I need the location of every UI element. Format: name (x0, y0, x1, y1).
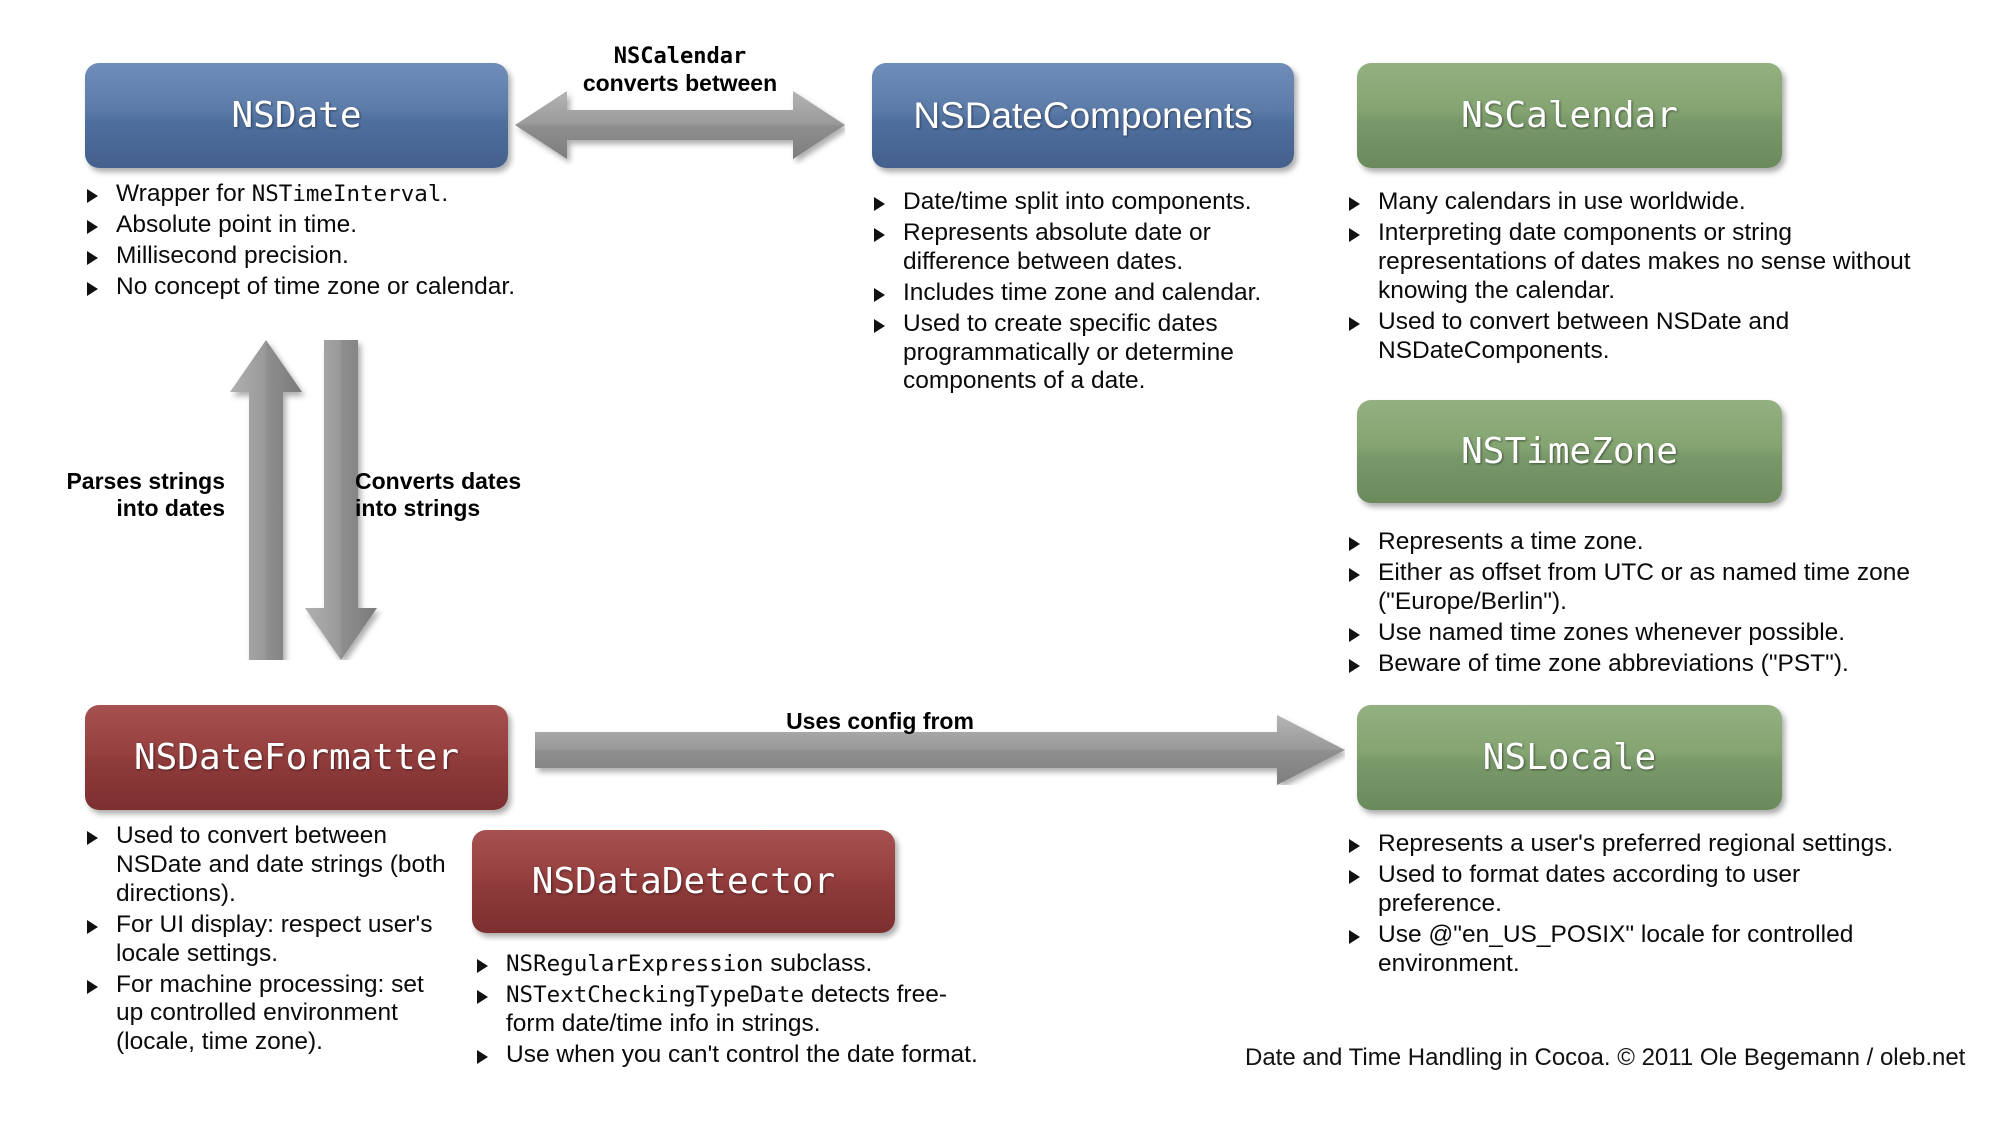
bullet-text: Absolute point in time. (116, 211, 357, 238)
bullet-list-nslocale: Represents a user's preferred regional s… (1340, 830, 1910, 979)
parses-strings-line1: Parses strings (66, 468, 225, 494)
arrow-label-converts-between: converts between (583, 70, 777, 96)
diagram-canvas: NSCalendar converts between Parses strin… (0, 0, 2000, 1125)
bullets-nscalendar: Many calendars in use worldwide.Interpre… (1340, 188, 1915, 367)
bullet-item: No concept of time zone or calendar. (78, 273, 548, 302)
node-nsdateformatter[interactable]: NSDateFormatter (85, 705, 508, 810)
bullet-item: Use named time zones whenever possible. (1340, 619, 1925, 648)
bullet-text: For UI display: respect user's locale se… (116, 911, 432, 967)
bullet-text: No concept of time zone or calendar. (116, 273, 515, 300)
bullets-nstimezone: Represents a time zone.Either as offset … (1340, 528, 1925, 681)
arrow-label-uses-config-from: Uses config from (700, 708, 1060, 735)
bullets-nsdate: Wrapper for NSTimeInterval.Absolute poin… (78, 180, 548, 304)
code-term: NSTimeInterval (252, 181, 442, 207)
bullet-item: Used to convert between NSDate and date … (78, 822, 448, 909)
node-nscalendar-title: NSCalendar (1461, 95, 1678, 136)
bullet-item: For UI display: respect user's locale se… (78, 911, 448, 969)
bullet-item: NSRegularExpression subclass. (468, 950, 978, 979)
code-term: NSRegularExpression (506, 951, 763, 977)
bullet-item: Beware of time zone abbreviations ("PST"… (1340, 650, 1925, 679)
bullet-text: subclass. (763, 950, 872, 977)
bullet-text: For machine processing: set up controlle… (116, 971, 424, 1056)
node-nslocale[interactable]: NSLocale (1357, 705, 1782, 810)
node-nsdate[interactable]: NSDate (85, 63, 508, 168)
node-nstimezone-title: NSTimeZone (1461, 431, 1678, 472)
bullet-list-nscalendar: Many calendars in use worldwide.Interpre… (1340, 188, 1915, 365)
bullet-text: Either as offset from UTC or as named ti… (1378, 559, 1910, 615)
code-term: NSTextCheckingTypeDate (506, 982, 804, 1008)
bullets-nslocale: Represents a user's preferred regional s… (1340, 830, 1910, 981)
bullet-item: Wrapper for NSTimeInterval. (78, 180, 548, 209)
bullets-nsdatecomponents: Date/time split into components.Represen… (865, 188, 1265, 398)
bullet-list-nsdateformatter: Used to convert between NSDate and date … (78, 822, 448, 1057)
bullet-item: Either as offset from UTC or as named ti… (1340, 559, 1925, 617)
bullet-list-nstimezone: Represents a time zone.Either as offset … (1340, 528, 1925, 679)
bullet-item: NSTextCheckingTypeDate detects free-form… (468, 981, 978, 1039)
node-nstimezone[interactable]: NSTimeZone (1357, 400, 1782, 503)
bullet-text: Use @"en_US_POSIX" locale for controlled… (1378, 921, 1853, 977)
bullets-nsdateformatter: Used to convert between NSDate and date … (78, 822, 448, 1059)
node-nslocale-title: NSLocale (1483, 737, 1656, 778)
arrow-label-calendar-converts: NSCalendar converts between (540, 42, 820, 96)
bullet-text: Wrapper for (116, 180, 252, 207)
bullet-item: Many calendars in use worldwide. (1340, 188, 1915, 217)
node-nsdate-title: NSDate (231, 95, 361, 136)
bullet-text: Used to create specific dates programmat… (903, 310, 1234, 395)
converts-dates-line2: into strings (355, 495, 480, 521)
bullet-item: Use @"en_US_POSIX" locale for controlled… (1340, 921, 1910, 979)
bullet-text: Many calendars in use worldwide. (1378, 188, 1746, 215)
parses-strings-line2: into dates (116, 495, 225, 521)
arrow-label-parses-strings: Parses strings into dates (40, 468, 225, 521)
bullet-item: Represents absolute date or difference b… (865, 219, 1265, 277)
bullet-text: Represents absolute date or difference b… (903, 219, 1211, 275)
bullet-item: Used to create specific dates programmat… (865, 310, 1265, 397)
node-nsdatecomponents[interactable]: NSDateComponents (872, 63, 1294, 168)
bullet-list-nsdatecomponents: Date/time split into components.Represen… (865, 188, 1265, 396)
uses-config-from-text: Uses config from (786, 708, 974, 734)
bullet-item: Interpreting date components or string r… (1340, 219, 1915, 306)
arrow-label-converts-dates: Converts dates into strings (355, 468, 575, 521)
arrow-parses-strings-into-dates (230, 340, 310, 660)
arrow-calendar-converts-between (515, 85, 845, 165)
bullet-text: Beware of time zone abbreviations ("PST"… (1378, 650, 1849, 677)
bullet-item: Absolute point in time. (78, 211, 548, 240)
bullet-text: Represents a time zone. (1378, 528, 1644, 555)
bullet-text: Used to format dates according to user p… (1378, 861, 1800, 917)
node-nsdatadetector[interactable]: NSDataDetector (472, 830, 895, 933)
bullet-text: Millisecond precision. (116, 242, 349, 269)
bullet-text: Date/time split into components. (903, 188, 1252, 215)
node-nsdatecomponents-title: NSDateComponents (913, 95, 1252, 137)
node-nscalendar[interactable]: NSCalendar (1357, 63, 1782, 168)
bullet-item: Represents a user's preferred regional s… (1340, 830, 1910, 859)
node-nsdatadetector-title: NSDataDetector (532, 861, 835, 902)
bullet-text: Interpreting date components or string r… (1378, 219, 1911, 304)
bullet-text: Use when you can't control the date form… (506, 1041, 978, 1068)
bullet-item: Use when you can't control the date form… (468, 1041, 978, 1070)
bullet-list-nsdatadetector: NSRegularExpression subclass.NSTextCheck… (468, 950, 978, 1070)
arrow-label-calendar-mono: NSCalendar (614, 44, 746, 69)
bullet-text: . (441, 180, 448, 207)
bullet-item: Includes time zone and calendar. (865, 279, 1265, 308)
converts-dates-line1: Converts dates (355, 468, 521, 494)
bullet-list-nsdate: Wrapper for NSTimeInterval.Absolute poin… (78, 180, 548, 302)
bullet-item: Used to convert between NSDate and NSDat… (1340, 308, 1915, 366)
bullet-text: Used to convert between NSDate and date … (116, 822, 446, 907)
bullet-item: Used to format dates according to user p… (1340, 861, 1910, 919)
node-nsdateformatter-title: NSDateFormatter (134, 737, 459, 778)
bullet-text: Includes time zone and calendar. (903, 279, 1261, 306)
bullet-text: Represents a user's preferred regional s… (1378, 830, 1893, 857)
bullet-item: Represents a time zone. (1340, 528, 1925, 557)
bullets-nsdatadetector: NSRegularExpression subclass.NSTextCheck… (468, 950, 978, 1072)
bullet-item: Millisecond precision. (78, 242, 548, 271)
bullet-item: For machine processing: set up controlle… (78, 971, 448, 1058)
bullet-text: Used to convert between NSDate and NSDat… (1378, 308, 1789, 364)
bullet-item: Date/time split into components. (865, 188, 1265, 217)
bullet-text: Use named time zones whenever possible. (1378, 619, 1845, 646)
footer-credit: Date and Time Handling in Cocoa. © 2011 … (1245, 1044, 1965, 1072)
